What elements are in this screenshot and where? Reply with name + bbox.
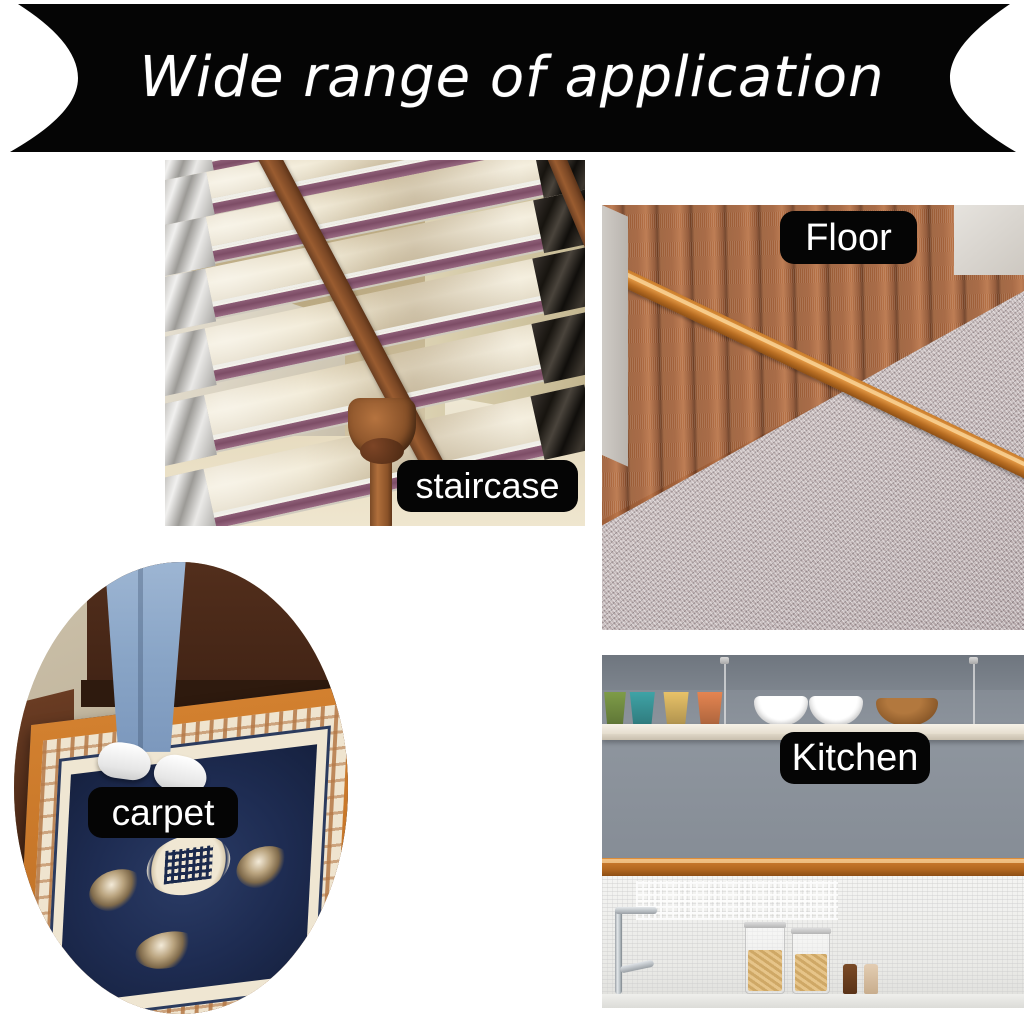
label-carpet: carpet (88, 787, 238, 838)
rug-floral-motif (88, 865, 144, 913)
kitchen-faucet-body (615, 908, 622, 994)
glass-jar-pasta (745, 926, 785, 994)
kitchen-tile-highlight (636, 881, 839, 920)
panel-kitchen (602, 655, 1024, 1008)
panel-floor (602, 205, 1024, 630)
cup-teal (627, 692, 657, 726)
bowl-white-1 (754, 696, 808, 726)
wooden-pepper-mill (843, 964, 857, 994)
kitchen-wood-trim (602, 858, 1024, 876)
floor-right-wall (954, 205, 1024, 275)
bowl-wood (876, 698, 938, 726)
kitchen-wood-trim-highlight (602, 859, 1024, 862)
rug-floral-motif (134, 927, 200, 972)
banner-title: Wide range of application (0, 0, 1024, 155)
label-kitchen: Kitchen (780, 732, 930, 784)
carpet-area-rug (14, 684, 348, 1014)
header-banner: Wide range of application (0, 0, 1024, 160)
cup-yellow (661, 692, 691, 726)
glass-jar-lid (744, 922, 786, 928)
label-floor: Floor (780, 211, 917, 264)
shelf-rod-cap (969, 657, 978, 664)
glass-jar-lid (791, 928, 831, 934)
kitchen-shelf-items (602, 669, 1024, 725)
cup-orange (695, 692, 725, 726)
shelf-rod-cap (720, 657, 729, 664)
pasta-contents (795, 954, 827, 991)
bowl-white-2 (809, 696, 863, 726)
wooden-salt-mill (864, 964, 878, 994)
rug-floral-motif (236, 843, 292, 891)
glass-jar-pasta (792, 932, 830, 994)
label-staircase: staircase (397, 460, 578, 512)
kitchen-faucet-spout (615, 907, 657, 914)
cup-green (602, 692, 628, 726)
floor-left-wall (602, 205, 628, 467)
rug-center-medallion (145, 830, 232, 900)
pasta-contents (748, 950, 782, 991)
kitchen-countertop (602, 994, 1024, 1008)
stair-newel-cap (348, 398, 416, 456)
